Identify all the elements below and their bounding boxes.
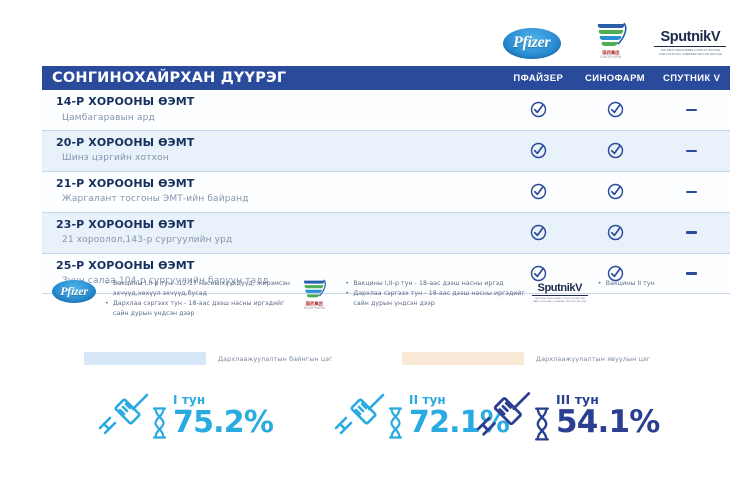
stat-dose-1: I тун 75.2%	[96, 392, 273, 440]
sinopharm-wordmark-en: SINOPHARM	[304, 306, 325, 310]
legend-text: Вакцины II тун	[606, 279, 655, 289]
bullet-icon: •	[105, 279, 113, 299]
coverage-stats: I тун 75.2%	[96, 390, 696, 458]
column-header-sputnik: СПУТНИК V	[653, 73, 730, 84]
sputnik-wordmark-text: Sputnik	[660, 29, 710, 45]
stat-dose-3: III тун 54.1%	[474, 390, 660, 442]
pfizer-logo-small: Pfizer	[52, 280, 96, 303]
availability-cell-sinopharm	[577, 90, 654, 130]
site-address: 21 хороолол,143-р сургуулийн урд	[56, 233, 500, 247]
hourglass-icon	[533, 406, 551, 442]
list-item: • Вакцины I,II-р тун - 18-аас дээш насны…	[345, 279, 528, 289]
table-header-row: СОНГИНОХАЙРХАН ДҮҮРЭГ ПФАЙЗЕР СИНОФАРМ С…	[42, 66, 730, 90]
pfizer-wordmark: Pfizer	[513, 34, 550, 52]
site-address: Шинэ цэргийн хотхон	[56, 151, 500, 165]
pfizer-logo-cell: Pfizer	[492, 18, 571, 68]
site-cell: 23-Р ХОРООНЫ ӨЭМТ21 хороолол,143-р сургу…	[42, 213, 500, 253]
color-key-permanent: Дархлаажуулалтын байнгын цэг	[84, 352, 402, 365]
availability-cell-pfizer	[500, 172, 577, 212]
dash-icon	[686, 272, 697, 274]
availability-cell-sputnik	[653, 90, 730, 130]
list-item: • Дархлаа сэргээх тун - 18-аас дээш насн…	[345, 289, 528, 309]
availability-cell-sinopharm	[577, 172, 654, 212]
column-header-pfizer: ПФАЙЗЕР	[500, 73, 577, 84]
pfizer-logo: Pfizer	[503, 28, 561, 59]
legend-sinopharm-list: • Вакцины I,II-р тун - 18-аас дээш насны…	[345, 278, 528, 309]
sputnik-wordmark: SputnikV	[660, 29, 720, 45]
sputnik-wordmark-v: V	[711, 29, 720, 45]
brand-logo-strip: Pfizer 国药集团 SINOPHARM SputnikV	[492, 18, 730, 68]
legend-pfizer: Pfizer • Вакцины I,II-р тун - 12-17 насн…	[50, 278, 290, 319]
dash-icon	[686, 150, 697, 152]
syringe-icon	[474, 390, 532, 442]
sinopharm-mark-icon	[301, 278, 327, 300]
table-body: 14-Р ХОРООНЫ ӨЭМТЦамбагаравын ард20-Р ХО…	[42, 90, 730, 294]
sinopharm-logo-small: 国药集团 SINOPHARM	[297, 278, 331, 314]
sinopharm-wordmark-en: SINOPHARM	[600, 55, 621, 59]
sputnik-logo: SputnikV THE FIRST REGISTERED COVID-19 V…	[653, 29, 727, 56]
color-key-legend: Дархлаажуулалтын байнгын цэг Дархлаажуул…	[84, 352, 704, 365]
stat-icons	[474, 390, 551, 442]
permanent-point-label: Дархлаажуулалтын байнгын цэг	[218, 355, 332, 363]
bullet-icon: •	[105, 299, 113, 319]
availability-cell-sputnik	[653, 172, 730, 212]
check-circle-icon	[530, 224, 547, 241]
table-row: 21-Р ХОРООНЫ ӨЭМТЖаргалант тосгоны ЭМТ-и…	[42, 172, 730, 213]
permanent-point-swatch	[84, 352, 206, 365]
list-item: • Дархлаа сэргээх тун - 18-аас дээш насн…	[105, 299, 290, 319]
dash-icon	[686, 109, 697, 111]
hourglass-icon	[387, 406, 404, 440]
sputnik-sub-line2: GAM-COVID-VAC COMBINED VECTOR VACCINE	[653, 53, 727, 57]
legend-text: Дархлаа сэргээх тун - 18-аас дээш насны …	[353, 289, 528, 309]
site-address: Цамбагаравын ард	[56, 111, 500, 125]
check-circle-icon	[607, 142, 624, 159]
legend-sinopharm: 国药集团 SINOPHARM • Вакцины I,II-р тун - 18…	[290, 278, 528, 319]
site-cell: 14-Р ХОРООНЫ ӨЭМТЦамбагаравын ард	[42, 90, 500, 130]
bullet-icon: •	[345, 289, 353, 309]
dash-icon	[686, 231, 697, 233]
stat-text: I тун 75.2%	[173, 394, 273, 438]
availability-cell-pfizer	[500, 90, 577, 130]
dash-icon	[686, 191, 697, 193]
availability-cell-sinopharm	[577, 131, 654, 171]
legend-sputnik-logo-wrap: SputnikV THE FIRST REGISTERED COVID-19 V…	[529, 282, 591, 304]
mobile-point-label: Дархлаажуулалтын явуулын цэг	[536, 355, 650, 363]
check-circle-icon	[607, 224, 624, 241]
stat-text: III тун 54.1%	[556, 393, 660, 439]
stat-value: 75.2%	[173, 407, 273, 439]
site-name: 23-Р ХОРООНЫ ӨЭМТ	[56, 217, 500, 234]
sinopharm-mark-icon	[594, 21, 628, 49]
bullet-icon: •	[345, 279, 353, 289]
legend-pfizer-list: • Вакцины I,II-р тун - 12-17 насны хүүхд…	[105, 278, 290, 319]
column-header-sinopharm: СИНОФАРМ	[577, 73, 654, 84]
availability-cell-sinopharm	[577, 213, 654, 253]
syringe-icon	[96, 392, 150, 440]
sputnik-divider	[654, 46, 726, 47]
hourglass-icon	[151, 406, 168, 440]
sputnik-wordmark-v: V	[575, 282, 582, 294]
brand-legend: Pfizer • Вакцины I,II-р тун - 12-17 насн…	[50, 278, 710, 319]
site-address: Жаргалант тосгоны ЭМТ-ийн байранд	[56, 192, 500, 206]
sputnik-wordmark-text: Sputnik	[538, 282, 576, 294]
site-name: 14-Р ХОРООНЫ ӨЭМТ	[56, 94, 500, 111]
legend-sputnik: SputnikV THE FIRST REGISTERED COVID-19 V…	[529, 278, 710, 319]
site-name: 25-Р ХОРООНЫ ӨЭМТ	[56, 258, 500, 275]
infographic-page: Pfizer 国药集团 SINOPHARM SputnikV	[0, 0, 750, 503]
list-item: • Вакцины II тун	[598, 279, 655, 289]
stat-icons	[332, 392, 404, 440]
check-circle-icon	[530, 101, 547, 118]
syringe-icon	[332, 392, 386, 440]
availability-cell-pfizer	[500, 131, 577, 171]
check-circle-icon	[607, 183, 624, 200]
availability-cell-sputnik	[653, 131, 730, 171]
district-title: СОНГИНОХАЙРХАН ДҮҮРЭГ	[42, 70, 500, 86]
site-name: 21-Р ХОРООНЫ ӨЭМТ	[56, 176, 500, 193]
check-circle-icon	[530, 142, 547, 159]
stat-icons	[96, 392, 168, 440]
pfizer-wordmark-small: Pfizer	[60, 284, 88, 299]
legend-pfizer-logo-wrap: Pfizer	[50, 280, 98, 303]
table-row: 20-Р ХОРООНЫ ӨЭМТШинэ цэргийн хотхон	[42, 131, 730, 172]
color-key-mobile: Дархлаажуулалтын явуулын цэг	[402, 352, 650, 365]
sinopharm-logo-cell: 国药集团 SINOPHARM	[571, 18, 650, 68]
mobile-point-swatch	[402, 352, 524, 365]
legend-sinopharm-logo-wrap: 国药集团 SINOPHARM	[290, 278, 338, 314]
check-circle-icon	[607, 101, 624, 118]
site-name: 20-Р ХОРООНЫ ӨЭМТ	[56, 135, 500, 152]
availability-cell-sputnik	[653, 213, 730, 253]
legend-text: Дархлаа сэргээх тун - 18-аас дээш насны …	[113, 299, 290, 319]
sputnik-divider	[532, 295, 588, 296]
sputnik-sub-line2: GAM-COVID-VAC COMBINED VECTOR VACCINE	[531, 301, 589, 304]
stat-value: 54.1%	[556, 406, 660, 439]
availability-cell-pfizer	[500, 213, 577, 253]
sinopharm-logo: 国药集团 SINOPHARM	[591, 21, 631, 65]
table-row: 23-Р ХОРООНЫ ӨЭМТ21 хороолол,143-р сургу…	[42, 213, 730, 254]
site-cell: 21-Р ХОРООНЫ ӨЭМТЖаргалант тосгоны ЭМТ-и…	[42, 172, 500, 212]
sputnik-logo-cell: SputnikV THE FIRST REGISTERED COVID-19 V…	[651, 18, 730, 68]
check-circle-icon	[530, 183, 547, 200]
table-row: 14-Р ХОРООНЫ ӨЭМТЦамбагаравын ард	[42, 90, 730, 131]
list-item: • Вакцины I,II-р тун - 12-17 насны хүүхд…	[105, 279, 290, 299]
vaccination-sites-table: СОНГИНОХАЙРХАН ДҮҮРЭГ ПФАЙЗЕР СИНОФАРМ С…	[42, 66, 730, 294]
legend-text: Вакцины I,II-р тун - 12-17 насны хүүхдүү…	[113, 279, 290, 299]
sputnik-wordmark-small: SputnikV	[538, 282, 582, 294]
legend-sputnik-list: • Вакцины II тун	[598, 278, 655, 289]
bullet-icon: •	[598, 279, 606, 289]
site-cell: 20-Р ХОРООНЫ ӨЭМТШинэ цэргийн хотхон	[42, 131, 500, 171]
legend-text: Вакцины I,II-р тун - 18-аас дээш насны и…	[353, 279, 528, 289]
sputnik-logo-small: SputnikV THE FIRST REGISTERED COVID-19 V…	[531, 282, 589, 304]
